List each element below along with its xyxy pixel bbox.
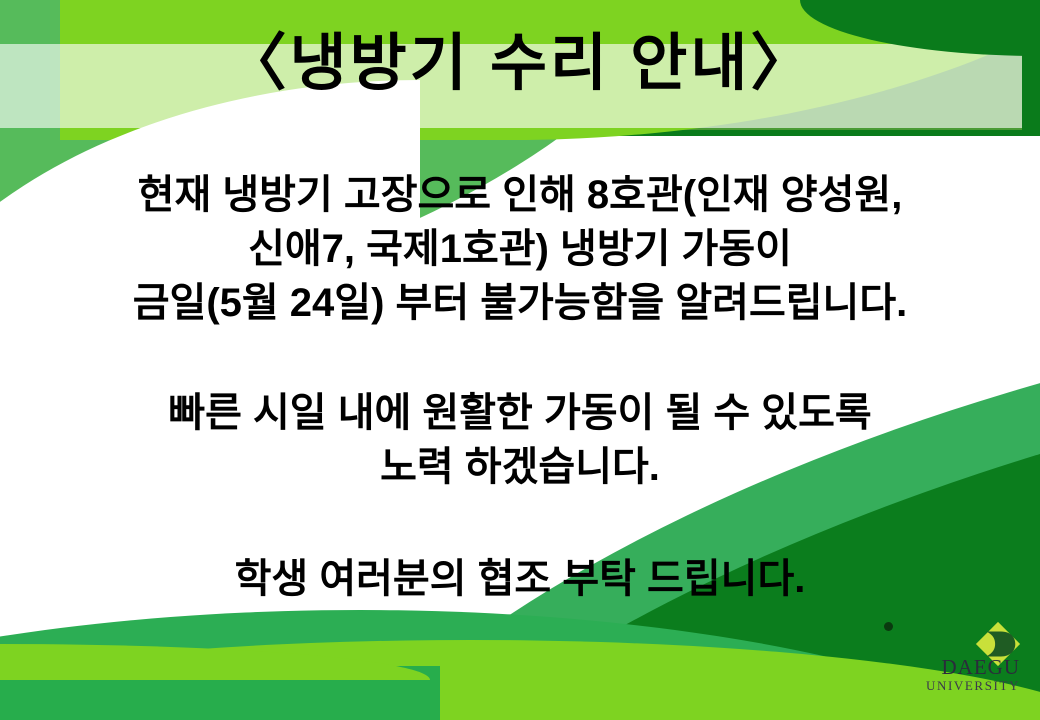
logo-wordmark: DAEGU UNIVERSITY	[926, 657, 1020, 692]
daegu-university-logo: DAEGU UNIVERSITY	[868, 620, 1028, 694]
logo-name: DAEGU	[926, 657, 1020, 678]
logo-subtitle: UNIVERSITY	[926, 679, 1020, 692]
page-title-text: 〈냉방기 수리 안내〉	[225, 26, 816, 102]
notice-paragraph-2: 빠른 시일 내에 원활한 가동이 될 수 있도록 노력 하겠습니다.	[0, 386, 1040, 494]
notice-line: 금일(5월 24일) 부터 불가능함을 알려드립니다.	[0, 276, 1040, 330]
notice-line: 노력 하겠습니다.	[0, 440, 1040, 494]
notice-line: 빠른 시일 내에 원활한 가동이 될 수 있도록	[0, 386, 1040, 440]
notice-line: 신애7, 국제1호관) 냉방기 가동이	[0, 222, 1040, 276]
notice-line: 학생 여러분의 협조 부탁 드립니다.	[0, 552, 1040, 606]
notice-body: 현재 냉방기 고장으로 인해 8호관(인재 양성원, 신애7, 국제1호관) 냉…	[0, 168, 1040, 606]
notice-paragraph-1: 현재 냉방기 고장으로 인해 8호관(인재 양성원, 신애7, 국제1호관) 냉…	[0, 168, 1040, 330]
notice-line: 현재 냉방기 고장으로 인해 8호관(인재 양성원,	[0, 168, 1040, 222]
notice-paragraph-3: 학생 여러분의 협조 부탁 드립니다.	[0, 552, 1040, 606]
notice-slide: 〈냉방기 수리 안내〉 현재 냉방기 고장으로 인해 8호관(인재 양성원, 신…	[0, 0, 1040, 720]
page-title: 〈냉방기 수리 안내〉	[0, 26, 1040, 102]
